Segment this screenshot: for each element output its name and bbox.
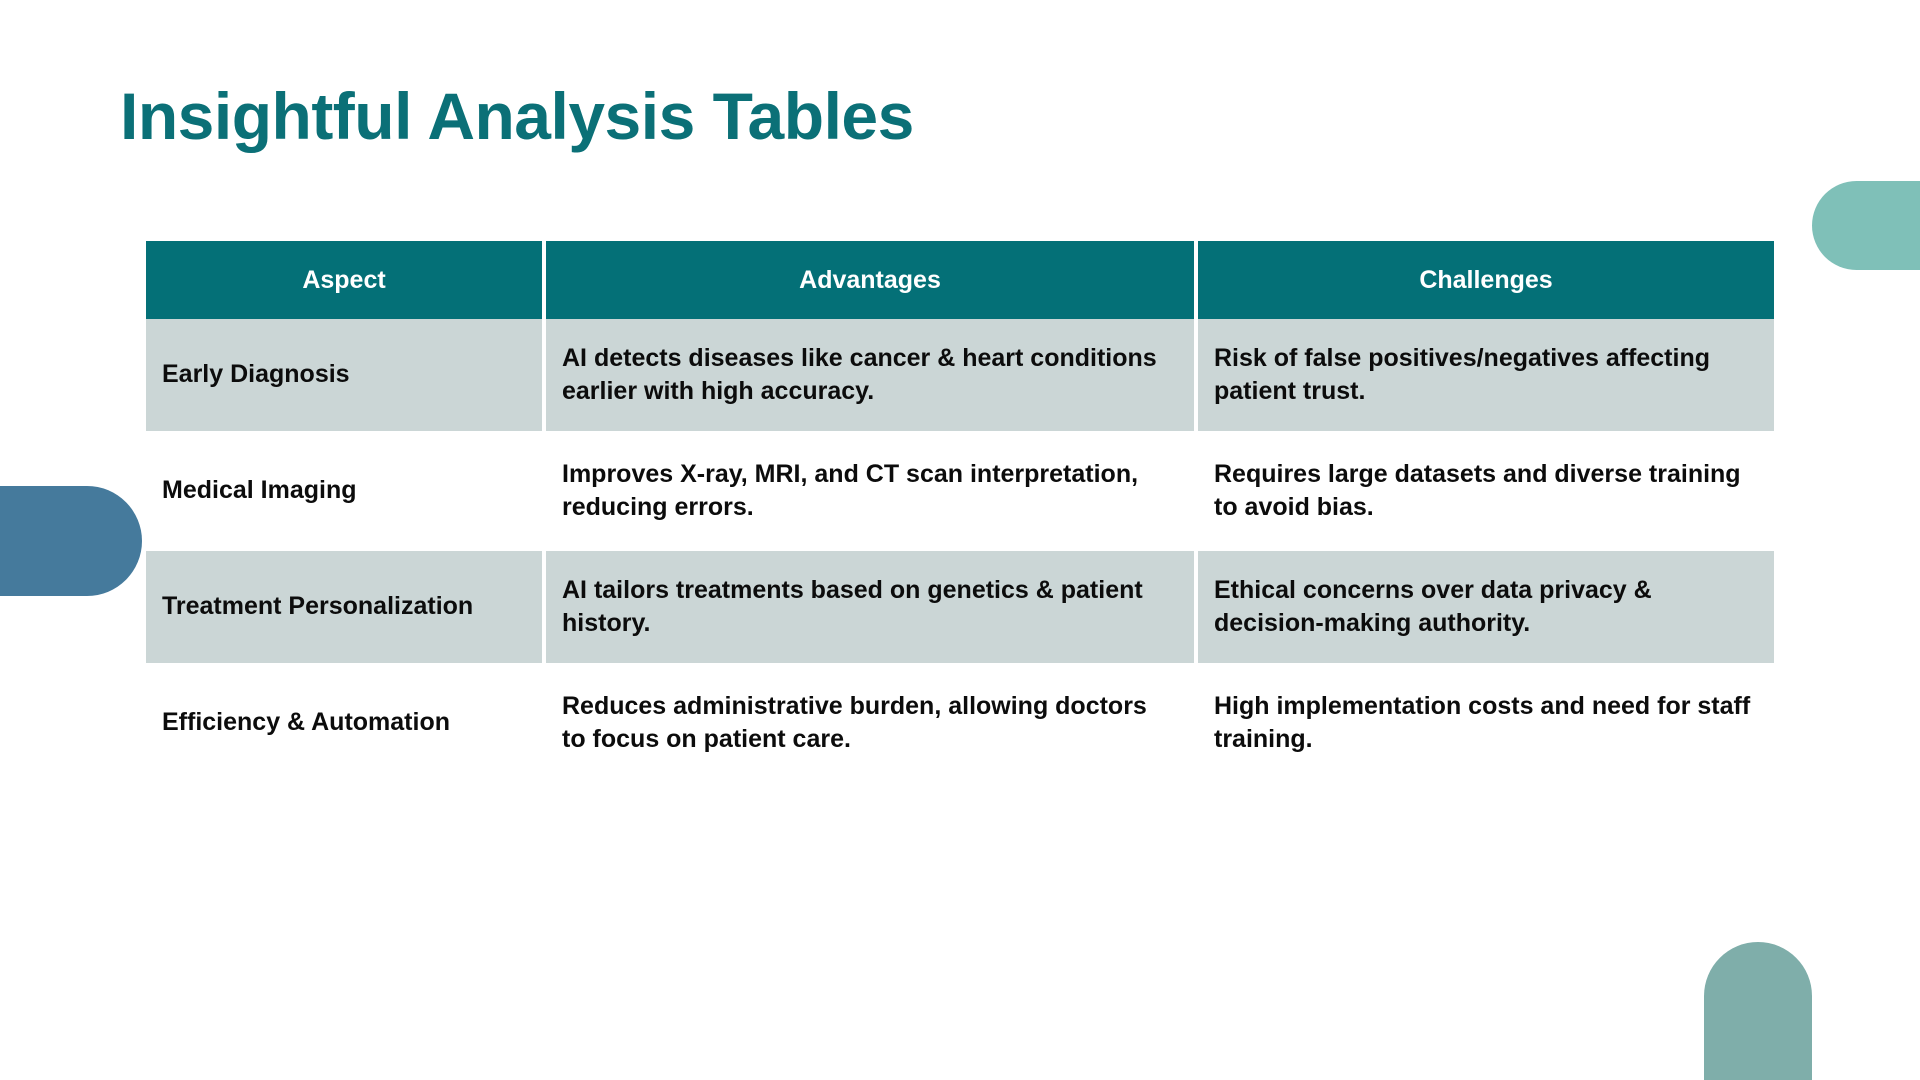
cell-advantages: AI tailors treatments based on genetics … [546, 551, 1198, 667]
table-row: Medical Imaging Improves X-ray, MRI, and… [146, 435, 1774, 551]
table-row: Efficiency & Automation Reduces administ… [146, 667, 1774, 783]
column-header-advantages: Advantages [546, 241, 1198, 319]
cell-advantages: AI detects diseases like cancer & heart … [546, 319, 1198, 435]
cell-aspect: Efficiency & Automation [146, 667, 546, 783]
cell-challenges: High implementation costs and need for s… [1198, 667, 1774, 783]
cell-challenges: Ethical concerns over data privacy & dec… [1198, 551, 1774, 667]
cell-advantages: Improves X-ray, MRI, and CT scan interpr… [546, 435, 1198, 551]
column-header-challenges: Challenges [1198, 241, 1774, 319]
cell-aspect: Early Diagnosis [146, 319, 546, 435]
cell-aspect: Medical Imaging [146, 435, 546, 551]
table-header-row: Aspect Advantages Challenges [146, 241, 1774, 319]
page-title: Insightful Analysis Tables [120, 80, 914, 154]
cell-aspect: Treatment Personalization [146, 551, 546, 667]
analysis-table: Aspect Advantages Challenges Early Diagn… [146, 241, 1774, 783]
decorative-pill-left-middle [0, 486, 142, 596]
table-header: Aspect Advantages Challenges [146, 241, 1774, 319]
cell-advantages: Reduces administrative burden, allowing … [546, 667, 1198, 783]
analysis-table-container: Aspect Advantages Challenges Early Diagn… [146, 241, 1774, 783]
slide-canvas: Insightful Analysis Tables Aspect Advant… [0, 0, 1920, 1080]
table-row: Early Diagnosis AI detects diseases like… [146, 319, 1774, 435]
cell-challenges: Requires large datasets and diverse trai… [1198, 435, 1774, 551]
decorative-pill-right-top [1812, 181, 1920, 270]
table-row: Treatment Personalization AI tailors tre… [146, 551, 1774, 667]
table-body: Early Diagnosis AI detects diseases like… [146, 319, 1774, 783]
column-header-aspect: Aspect [146, 241, 546, 319]
cell-challenges: Risk of false positives/negatives affect… [1198, 319, 1774, 435]
decorative-pill-bottom-right [1704, 942, 1812, 1080]
